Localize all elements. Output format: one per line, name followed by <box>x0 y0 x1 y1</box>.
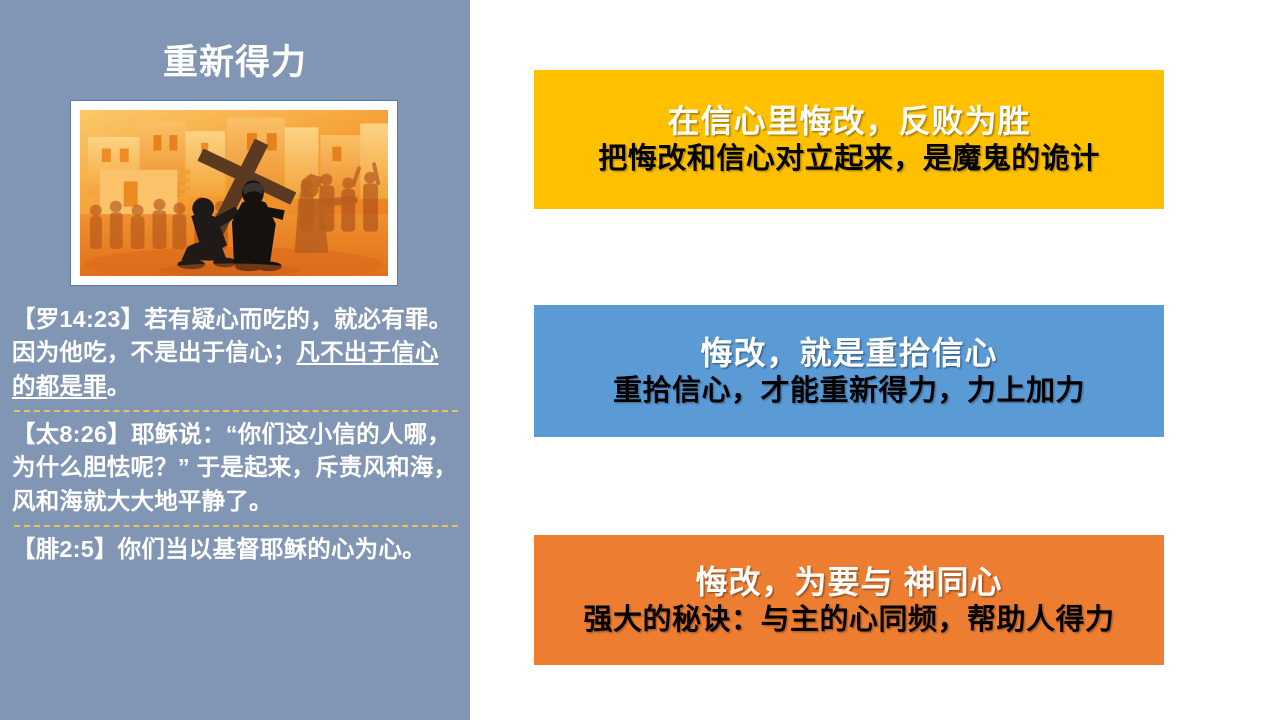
point-box-1: 在信心里悔改，反败为胜 把悔改和信心对立起来，是魔鬼的诡计 <box>534 70 1164 209</box>
point-subtitle-1: 把悔改和信心对立起来，是魔鬼的诡计 <box>598 141 1100 177</box>
scripture-item: 【腓2:5】你们当以基督耶稣的心为心。 <box>12 533 460 566</box>
right-panel: 在信心里悔改，反败为胜 把悔改和信心对立起来，是魔鬼的诡计 悔改，就是重拾信心 … <box>470 0 1280 720</box>
point-heading-2: 悔改，就是重拾信心 <box>700 333 997 373</box>
presentation-slide: 重新得力 <box>0 0 1280 720</box>
illustration-frame <box>70 100 398 286</box>
cross-bearing-illustration <box>80 110 388 276</box>
scripture-list: 【罗14:23】若有疑心而吃的，就必有罪。因为他吃，不是出于信心；凡不出于信心的… <box>12 303 460 567</box>
scripture-divider <box>14 525 458 527</box>
page-title: 重新得力 <box>0 44 470 83</box>
point-heading-3: 悔改，为要与 神同心 <box>696 562 1003 602</box>
point-subtitle-3: 强大的秘诀：与主的心同频，帮助人得力 <box>583 602 1114 638</box>
point-box-2: 悔改，就是重拾信心 重拾信心，才能重新得力，力上加力 <box>534 305 1164 437</box>
point-heading-1: 在信心里悔改，反败为胜 <box>667 101 1030 141</box>
point-box-3: 悔改，为要与 神同心 强大的秘诀：与主的心同频，帮助人得力 <box>534 535 1164 665</box>
point-subtitle-2: 重拾信心，才能重新得力，力上加力 <box>613 373 1085 409</box>
cross-bearing-illustration-svg <box>80 110 388 276</box>
scripture-divider <box>14 410 458 412</box>
scripture-reference: 【太8:26】 <box>12 421 131 447</box>
scripture-item: 【罗14:23】若有疑心而吃的，就必有罪。因为他吃，不是出于信心；凡不出于信心的… <box>12 303 460 403</box>
scripture-text: 你们当以基督耶稣的心为心。 <box>118 536 426 562</box>
scripture-reference: 【罗14:23】 <box>12 306 144 332</box>
left-panel: 重新得力 <box>0 0 470 720</box>
scripture-text-tail: 。 <box>107 373 131 399</box>
scripture-item: 【太8:26】耶稣说：“你们这小信的人哪，为什么胆怯呢？” 于是起来，斥责风和海… <box>12 418 460 518</box>
scripture-reference: 【腓2:5】 <box>12 536 118 562</box>
